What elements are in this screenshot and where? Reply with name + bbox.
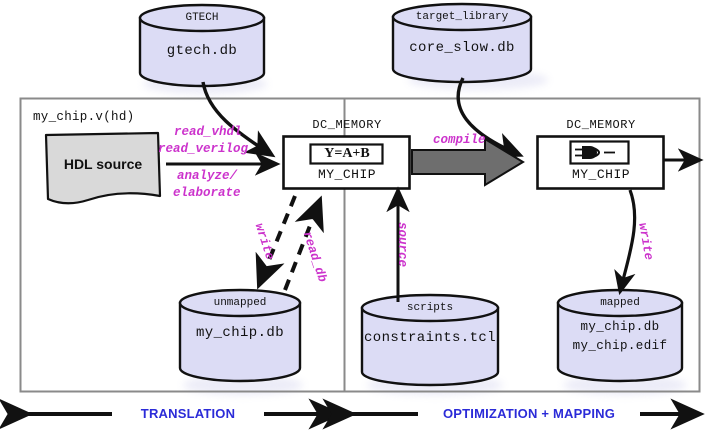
db-title-scripts: scripts xyxy=(364,303,496,314)
command-elaborate: elaborate xyxy=(173,187,241,200)
db-title-gtech: GTECH xyxy=(142,13,262,24)
source-file-caption: my_chip.v(hd) xyxy=(33,111,134,124)
phase-label-optimization: OPTIMIZATION + MAPPING xyxy=(418,406,640,421)
command-compile: compile xyxy=(433,134,486,147)
db-content-mapped-line1: my_chip.db xyxy=(558,320,682,335)
design-name-right: MY_CHIP xyxy=(538,168,664,181)
db-title-mapped: mapped xyxy=(560,298,680,309)
arrow-write-mapped xyxy=(620,190,635,292)
hdl-source-label: HDL source xyxy=(46,157,160,171)
db-content-scripts: constraints.tcl xyxy=(362,331,498,345)
design-name-left: MY_CHIP xyxy=(284,168,410,181)
dc-memory-header-right: DC_MEMORY xyxy=(538,119,664,131)
command-analyze: analyze/ xyxy=(177,170,237,183)
db-content-target-library: core_slow.db xyxy=(393,41,531,55)
db-content-unmapped: my_chip.db xyxy=(180,326,300,340)
db-content-gtech: gtech.db xyxy=(142,44,262,58)
db-content-mapped-line2: my_chip.edif xyxy=(558,339,682,354)
phase-label-translation: TRANSLATION xyxy=(112,406,264,421)
dc-memory-header-left: DC_MEMORY xyxy=(284,119,410,131)
design-equation: Y=A+B xyxy=(311,147,383,161)
db-title-unmapped: unmapped xyxy=(182,298,298,309)
command-read-vhdl: read_vhdl xyxy=(174,126,242,139)
command-source: source xyxy=(396,222,409,267)
diagram-vector-layer xyxy=(0,0,720,438)
command-read-verilog: read_verilog xyxy=(158,143,248,156)
db-title-target-library: target_library xyxy=(395,12,529,23)
diagram-canvas: GTECH gtech.db target_library core_slow.… xyxy=(0,0,720,438)
